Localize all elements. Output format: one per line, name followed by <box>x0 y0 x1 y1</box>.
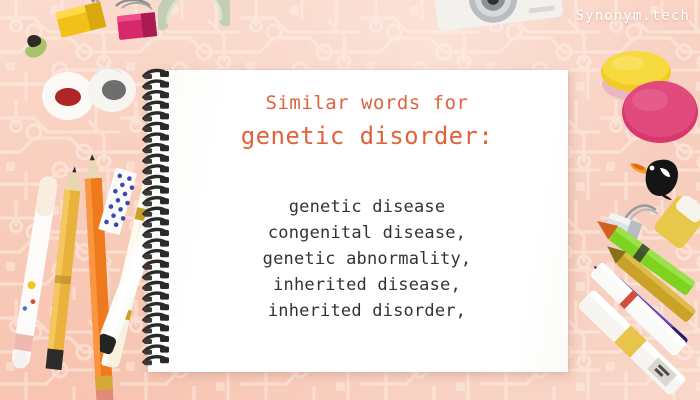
eraser-white-red <box>38 66 142 122</box>
page-kicker: Similar words for <box>148 94 568 113</box>
synonym-item: genetic abnormality, <box>166 246 568 272</box>
toucan-sticker <box>630 150 688 202</box>
synonym-item: congenital disease, <box>166 220 568 246</box>
glue-bottle <box>652 196 700 250</box>
washi-tape-green <box>158 0 230 34</box>
synonym-item: inherited disease, <box>166 272 568 298</box>
synonym-item: inherited disorder, <box>166 298 568 324</box>
screenshot-root: Similar words for genetic disorder: gene… <box>0 0 700 400</box>
synonym-item: genetic disease <box>166 194 568 220</box>
page-heading-block: Similar words for genetic disorder: <box>148 94 568 148</box>
page-headword: genetic disorder: <box>148 124 568 148</box>
notebook-page-surface: Similar words for genetic disorder: gene… <box>148 70 568 372</box>
synonym-list: genetic disease congenital disease, gene… <box>148 194 568 324</box>
camera-white <box>432 0 568 46</box>
green-pebble <box>18 34 66 70</box>
brand-watermark: Synonym.tech <box>576 8 690 24</box>
macaron-pink <box>616 74 700 146</box>
crayon-marker-group <box>576 196 700 400</box>
notebook-page: Similar words for genetic disorder: gene… <box>148 70 568 372</box>
